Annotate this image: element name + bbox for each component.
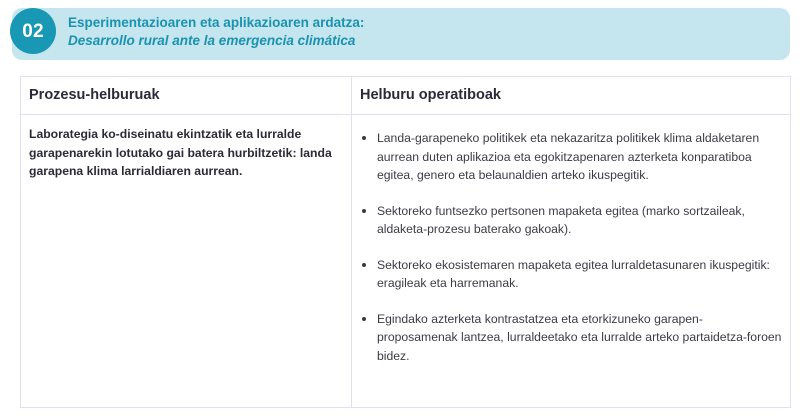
list-item-text: Sektoreko funtsezko pertsonen mapaketa e…: [377, 204, 745, 237]
operational-objectives-cell: Landa-garapeneko politikek eta nekazarit…: [352, 115, 791, 408]
list-item-text: Sektoreko ekosistemaren mapaketa egitea …: [377, 258, 770, 291]
list-item: Landa-garapeneko politikek eta nekazarit…: [358, 129, 782, 185]
page-title-spanish: Desarrollo rural ante la emergencia clim…: [68, 32, 780, 49]
list-item-text: Landa-garapeneko politikek eta nekazarit…: [377, 131, 759, 182]
bullet-dot-icon: [362, 317, 366, 321]
process-objectives-cell: Laborategia ko-diseinatu ekintzatik eta …: [21, 115, 352, 408]
page-title-basque: Esperimentazioaren eta aplikazioaren ard…: [68, 14, 780, 31]
column-header-process-objectives: Prozesu-helburuak: [21, 77, 352, 115]
list-item: Sektoreko ekosistemaren mapaketa egitea …: [358, 256, 782, 293]
process-objective-text: Laborategia ko-diseinatu ekintzatik eta …: [29, 125, 333, 181]
bullet-dot-icon: [362, 209, 366, 213]
table-header-row: Prozesu-helburuak Helburu operatiboak: [21, 77, 791, 115]
header-title-group: Esperimentazioaren eta aplikazioaren ard…: [68, 14, 780, 49]
objectives-table: Prozesu-helburuak Helburu operatiboak La…: [20, 76, 791, 408]
section-number-label: 02: [22, 22, 44, 41]
bullet-dot-icon: [362, 136, 366, 140]
section-number-badge: 02: [10, 8, 56, 54]
bullet-dot-icon: [362, 263, 366, 267]
list-item: Sektoreko funtsezko pertsonen mapaketa e…: [358, 202, 782, 239]
list-item: Egindako azterketa kontrastatzea eta eto…: [358, 310, 782, 366]
table-row: Laborategia ko-diseinatu ekintzatik eta …: [21, 115, 791, 408]
operational-objectives-list: Landa-garapeneko politikek eta nekazarit…: [358, 129, 782, 365]
column-header-operational-objectives: Helburu operatiboak: [352, 77, 791, 115]
list-item-text: Egindako azterketa kontrastatzea eta eto…: [377, 312, 781, 363]
